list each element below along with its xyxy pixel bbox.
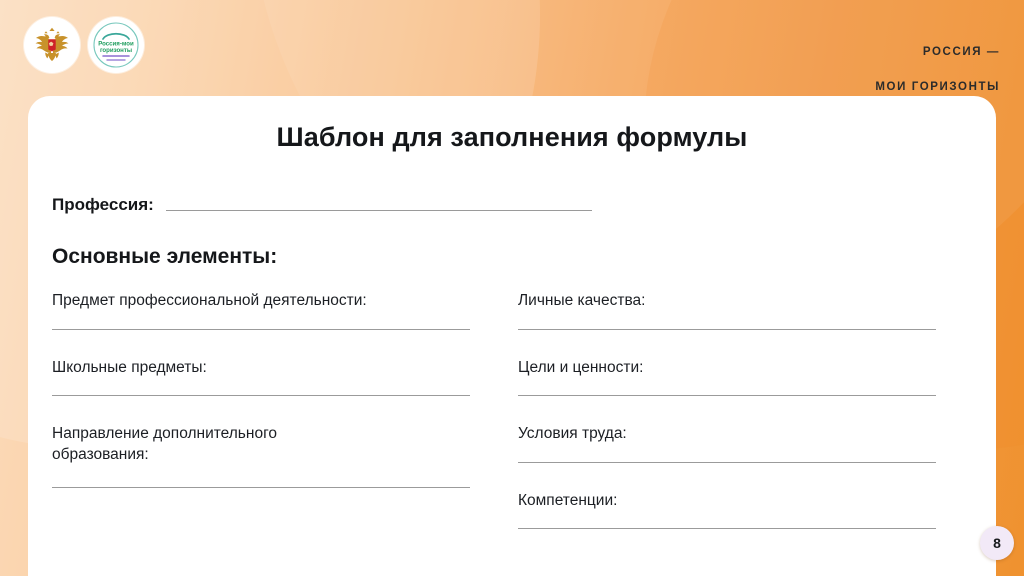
field-label: Цели и ценности: bbox=[518, 358, 936, 378]
slide-title: Шаблон для заполнения формулы bbox=[28, 96, 996, 153]
content-card: Шаблон для заполнения формулы Профессия:… bbox=[28, 96, 996, 576]
field-personal-qualities[interactable]: Личные качества: bbox=[518, 291, 936, 329]
profession-field[interactable]: Профессия: bbox=[52, 195, 592, 215]
field-write-line[interactable] bbox=[518, 528, 936, 529]
field-label: Направление дополнительного образования: bbox=[52, 424, 470, 465]
brand-wordmark: РОССИЯ — МОИ ГОРИЗОНТЫ bbox=[875, 26, 1000, 115]
field-write-line[interactable] bbox=[52, 487, 470, 488]
field-label: Личные качества: bbox=[518, 291, 936, 311]
field-competencies[interactable]: Компетенции: bbox=[518, 491, 936, 529]
field-write-line[interactable] bbox=[518, 329, 936, 330]
field-subject-of-professional-activity[interactable]: Предмет профессиональной деятельности: bbox=[52, 291, 470, 329]
field-working-conditions[interactable]: Условия труда: bbox=[518, 424, 936, 462]
field-label: Условия труда: bbox=[518, 424, 936, 444]
field-goals-and-values[interactable]: Цели и ценности: bbox=[518, 358, 936, 396]
rossiya-moi-gorizonty-logo: Россия-мои горизонты bbox=[88, 17, 144, 73]
field-write-line[interactable] bbox=[52, 395, 470, 396]
fields-grid: Предмет профессиональной деятельности: Ш… bbox=[28, 291, 996, 557]
field-write-line[interactable] bbox=[518, 462, 936, 463]
fields-right-column: Личные качества: Цели и ценности: Услови… bbox=[518, 291, 936, 557]
field-label: Школьные предметы: bbox=[52, 358, 470, 378]
slide-root: Россия-мои горизонты РОССИЯ — МОИ ГОРИЗО… bbox=[0, 0, 1024, 576]
page-number-badge: 8 bbox=[980, 526, 1014, 560]
field-label: Предмет профессиональной деятельности: bbox=[52, 291, 470, 311]
section-heading: Основные элементы: bbox=[52, 245, 996, 269]
profession-write-line[interactable] bbox=[166, 210, 592, 211]
horizon-arcs-icon: Россия-мои горизонты bbox=[92, 21, 140, 69]
brand-line-2: МОИ ГОРИЗОНТЫ bbox=[875, 79, 1000, 97]
header-logo-group: Россия-мои горизонты bbox=[24, 17, 144, 73]
fields-left-column: Предмет профессиональной деятельности: Ш… bbox=[52, 291, 470, 557]
field-supplementary-education-direction[interactable]: Направление дополнительного образования: bbox=[52, 424, 470, 488]
svg-text:горизонты: горизонты bbox=[100, 47, 132, 54]
profession-label: Профессия: bbox=[52, 195, 154, 215]
field-school-subjects[interactable]: Школьные предметы: bbox=[52, 358, 470, 396]
field-label: Компетенции: bbox=[518, 491, 936, 511]
brand-line-1: РОССИЯ — bbox=[875, 44, 1000, 62]
ministry-emblem-logo bbox=[24, 17, 80, 73]
double-headed-eagle-icon bbox=[30, 23, 74, 67]
field-write-line[interactable] bbox=[52, 329, 470, 330]
field-write-line[interactable] bbox=[518, 395, 936, 396]
